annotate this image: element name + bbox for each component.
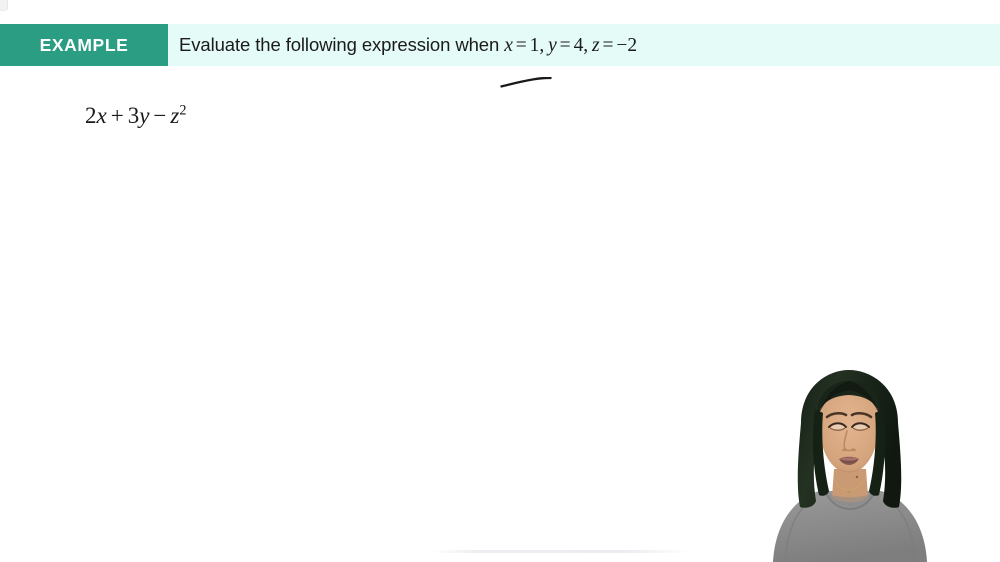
instructor-figure	[735, 365, 963, 562]
example-prompt-wrap: Evaluate the following expression when x…	[168, 24, 1000, 66]
condition-equals-z: =	[600, 35, 617, 56]
lesson-slide: EXAMPLE Evaluate the following expressio…	[0, 0, 1000, 562]
prompt-prefix: Evaluate the following expression when	[179, 34, 499, 55]
condition-value-z: −2	[616, 35, 637, 56]
example-banner: EXAMPLE Evaluate the following expressio…	[0, 24, 1000, 66]
example-badge-label: EXAMPLE	[40, 35, 129, 56]
operator-minus: −	[149, 103, 170, 128]
condition-variable-y: y	[548, 35, 557, 56]
condition-separator-x: ,	[539, 35, 548, 56]
example-badge: EXAMPLE	[0, 24, 168, 66]
algebraic-expression: 2x+3y−z2	[85, 103, 186, 129]
term-1-coefficient: 2	[85, 103, 97, 128]
bottom-divider	[430, 550, 690, 553]
condition-variable-z: z	[592, 35, 600, 56]
top-left-clipped-artifact	[0, 0, 8, 11]
operator-plus: +	[107, 103, 128, 128]
condition-equals-x: =	[513, 35, 530, 56]
condition-value-x: 1	[530, 35, 540, 56]
instructor-video-overlay[interactable]	[735, 365, 963, 562]
term-2-variable: y	[139, 103, 149, 128]
condition-equals-y: =	[557, 35, 574, 56]
example-prompt: Evaluate the following expression when x…	[179, 34, 637, 57]
condition-value-y: 4	[574, 35, 584, 56]
handdrawn-underline-annotation	[500, 77, 552, 89]
condition-variable-x: x	[504, 35, 513, 56]
term-3-exponent: 2	[179, 102, 186, 118]
term-2-coefficient: 3	[128, 103, 140, 128]
term-1-variable: x	[97, 103, 107, 128]
condition-separator-y: ,	[583, 35, 592, 56]
